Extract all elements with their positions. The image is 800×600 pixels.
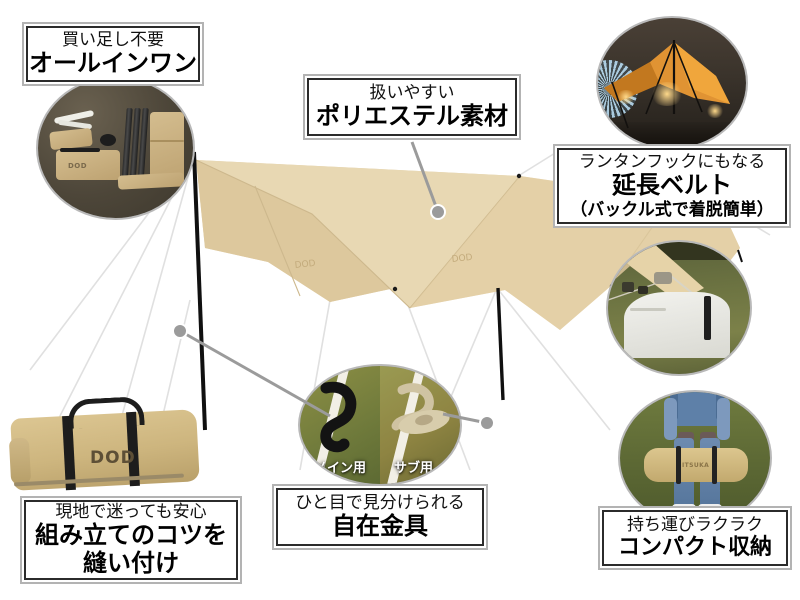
callout-extension-belt-sub: ランタンフックにもなる (579, 152, 766, 172)
hardware-sub-half: サブ用 (380, 366, 460, 484)
compact-carry-photo: ITSUKA (620, 392, 770, 524)
hardware-main-half: メイン用 (300, 366, 380, 484)
callout-all-in-one-main: オールインワン (29, 50, 197, 78)
night-tarp-photo (598, 18, 746, 148)
callout-polyester-main: ポリエステル素材 (316, 103, 508, 131)
callout-compact-storage[interactable]: 持ち運びラクラク コンパクト収納 (598, 506, 792, 570)
kit-bag-logo: DOD (68, 162, 87, 170)
leader-dot-hardware-left (172, 323, 188, 339)
callout-extension-belt-note: （バックル式で着脱簡単） (570, 200, 774, 220)
callout-all-in-one-sub: 買い足し不要 (62, 30, 164, 50)
callout-polyester-sub: 扱いやすい (370, 83, 455, 103)
callout-sewn-tips-main: 組み立てのコツを (35, 522, 227, 550)
leader-dot-hardware-right (479, 415, 495, 431)
hardware-main-label: メイン用 (314, 457, 366, 476)
callout-compact-storage-sub: 持ち運びラクラク (627, 515, 763, 535)
extension-belt-photo (608, 242, 750, 374)
all-in-one-kit-photo: DOD (38, 78, 193, 218)
infographic-canvas: DOD DOD (0, 0, 800, 600)
callout-sewn-tips-note: 縫い付け (83, 550, 179, 578)
callout-jizai-hardware[interactable]: ひと目で見分けられる 自在金具 (272, 484, 488, 550)
duffel-bag-logo: DOD (90, 448, 136, 468)
leader-dot-polyester (430, 204, 446, 220)
callout-sewn-tips-sub: 現地で迷っても安心 (55, 502, 206, 522)
carry-bag-logo: ITSUKA (682, 462, 709, 469)
callout-compact-storage-main: コンパクト収納 (618, 535, 772, 561)
callout-all-in-one[interactable]: 買い足し不要 オールインワン (22, 22, 204, 86)
hardware-sub-label: サブ用 (394, 457, 433, 476)
callout-extension-belt[interactable]: ランタンフックにもなる 延長ベルト （バックル式で着脱簡単） (553, 144, 791, 228)
callout-jizai-hardware-sub: ひと目で見分けられる (295, 493, 465, 513)
storage-bag-photo: DOD (6, 404, 206, 510)
jizai-hardware-photo: メイン用 サブ用 (300, 366, 460, 484)
callout-jizai-hardware-main: 自在金具 (332, 513, 428, 541)
callout-polyester[interactable]: 扱いやすい ポリエステル素材 (303, 74, 521, 140)
callout-sewn-tips[interactable]: 現地で迷っても安心 組み立てのコツを 縫い付け (20, 496, 242, 584)
callout-extension-belt-main: 延長ベルト (612, 172, 732, 200)
